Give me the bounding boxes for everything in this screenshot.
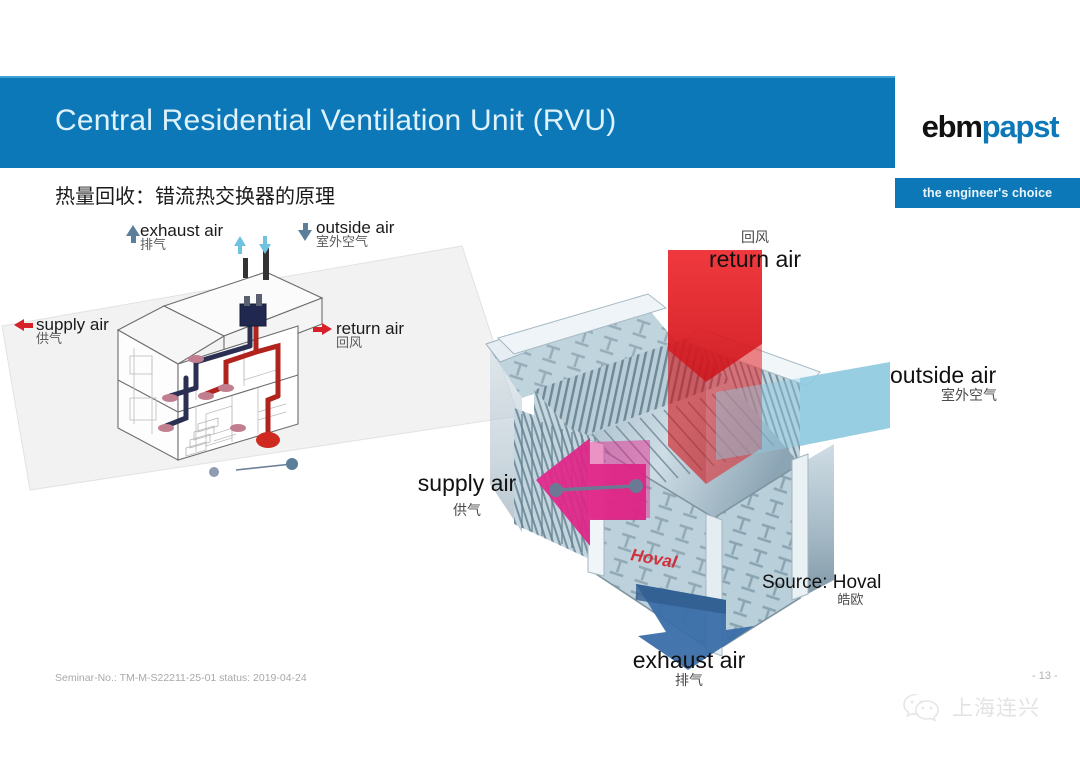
house-label-exhaust-air-en: exhaust air [140,222,223,239]
slide-subtitle: 热量回收：错流热交换器的原理 [55,180,335,209]
hx-label-supply-air: supply air 供气 [392,471,542,520]
house-label-return-air-cn: 回风 [336,337,404,352]
watermark-text: 上海连兴 [952,692,1040,722]
house-label-outside-air-en: outside air [316,219,394,236]
hx-label-return-air: 回风 return air [660,229,850,271]
slide-canvas: Central Residential Ventilation Unit (RV… [0,0,1080,763]
logo-text-ebm: ebm [922,109,982,144]
hx-label-outside-air-en: outside air [890,363,1070,387]
title-band-highlight [0,76,895,78]
hx-label-supply-air-cn: 供气 [392,502,542,520]
wechat-icon [900,690,944,724]
source-credit: Source: Hoval 皓欧 [762,573,881,610]
source-credit-cn: 皓欧 [762,593,881,610]
ebmpapst-logo: ebmpapst [900,76,1080,176]
hx-label-outside-air: outside air 室外空气 [890,363,1070,405]
house-label-exhaust-air-cn: 排气 [140,239,223,254]
hx-label-exhaust-air-cn: 排气 [604,672,774,690]
seminar-footer-note: Seminar-No.: TM-M-S22211-25-01 status: 2… [55,672,307,684]
hx-label-supply-air-en: supply air [392,471,542,495]
heat-exchanger-svg: Hoval [470,232,1030,672]
house-label-return-air-en: return air [336,320,404,337]
hx-label-return-air-cn: 回风 [660,229,850,247]
house-label-supply-air-en: supply air [36,316,109,333]
house-label-outside-air: outside air 室外空气 [316,219,394,251]
house-label-exhaust-air: exhaust air 排气 [140,222,223,254]
hx-label-outside-air-cn: 室外空气 [890,387,1070,405]
house-label-supply-air: supply air 供气 [36,316,109,348]
page-title: Central Residential Ventilation Unit (RV… [55,104,875,138]
hx-label-exhaust-air: exhaust air 排气 [604,648,774,690]
house-label-supply-air-cn: 供气 [36,333,109,348]
source-credit-en: Source: Hoval [762,573,881,593]
house-label-outside-air-cn: 室外空气 [316,236,394,251]
house-ventilation-illustration [0,228,520,498]
page-number: - 13 - [1032,670,1058,682]
house-label-return-air: return air 回风 [336,320,404,352]
house-diagram-svg [0,228,520,498]
wechat-watermark: 上海连兴 [900,690,1040,724]
tagline-band: the engineer's choice [895,178,1080,208]
heat-exchanger-illustration: Hoval [470,232,1030,672]
tagline-text: the engineer's choice [923,186,1052,200]
hx-label-return-air-en: return air [660,247,850,271]
logo-text-papst: papst [982,109,1059,144]
hx-label-exhaust-air-en: exhaust air [604,648,774,672]
